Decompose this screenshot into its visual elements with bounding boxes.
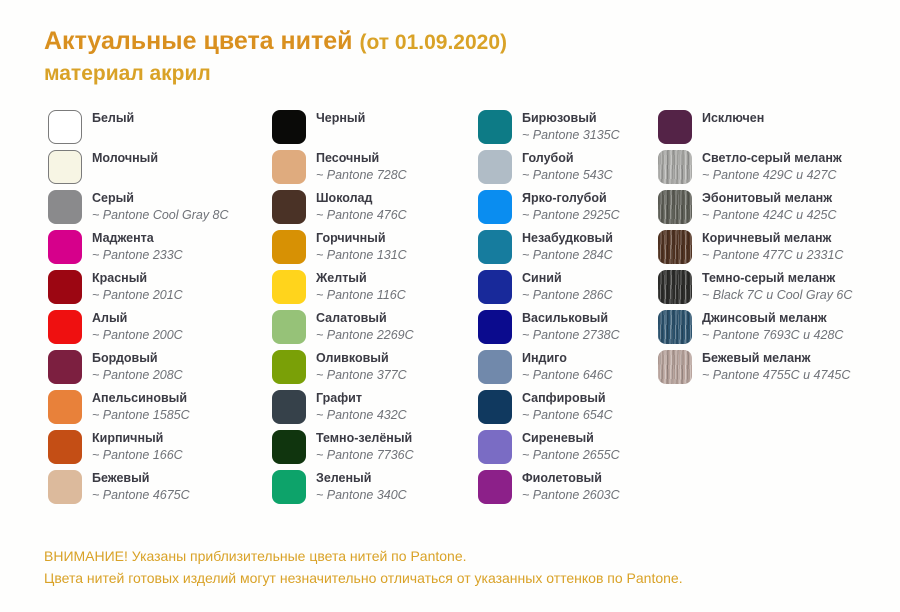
- color-row[interactable]: Сиреневый~ Pantone 2655C: [478, 430, 620, 470]
- color-pantone-code: ~ Pantone 116C: [316, 288, 406, 303]
- color-row[interactable]: Сапфировый~ Pantone 654C: [478, 390, 620, 430]
- color-pantone-code: ~ Pantone 646C: [522, 368, 613, 383]
- color-pantone-code: ~ Pantone 543C: [522, 168, 613, 183]
- color-text-block: Бордовый~ Pantone 208C: [92, 350, 183, 383]
- color-text-block: Ярко-голубой~ Pantone 2925C: [522, 190, 620, 223]
- color-pantone-code: ~ Pantone 4755C и 4745C: [702, 368, 850, 383]
- color-row[interactable]: Салатовый~ Pantone 2269C: [272, 310, 414, 350]
- color-swatch[interactable]: [48, 350, 82, 384]
- color-swatch[interactable]: [478, 350, 512, 384]
- color-pantone-code: ~ Pantone 476C: [316, 208, 407, 223]
- color-pantone-code: ~ Pantone 377C: [316, 368, 407, 383]
- color-pantone-code: ~ Pantone 131C: [316, 248, 407, 263]
- color-row[interactable]: Бежевый~ Pantone 4675C: [48, 470, 229, 510]
- color-name: Алый: [92, 311, 183, 326]
- color-name: Сапфировый: [522, 391, 613, 406]
- color-name: Темно-зелёный: [316, 431, 414, 446]
- color-pantone-code: ~ Pantone 429C и 427C: [702, 168, 842, 183]
- color-swatch[interactable]: [272, 310, 306, 344]
- color-swatch[interactable]: [272, 150, 306, 184]
- color-text-block: Кирпичный~ Pantone 166C: [92, 430, 183, 463]
- color-text-block: Сапфировый~ Pantone 654C: [522, 390, 613, 423]
- color-row[interactable]: Шоколад~ Pantone 476C: [272, 190, 414, 230]
- color-name: Джинсовый меланж: [702, 311, 843, 326]
- color-text-block: Черный: [316, 110, 365, 126]
- color-pantone-code: ~ Pantone 284C: [522, 248, 613, 263]
- color-name: Индиго: [522, 351, 613, 366]
- color-pantone-code: ~ Pantone 340C: [316, 488, 407, 503]
- color-row[interactable]: Синий~ Pantone 286C: [478, 270, 620, 310]
- color-name: Бирюзовый: [522, 111, 620, 126]
- color-row[interactable]: Эбонитовый меланж~ Pantone 424C и 425C: [658, 190, 852, 230]
- color-row[interactable]: Светло-серый меланж~ Pantone 429C и 427C: [658, 150, 852, 190]
- color-name: Горчичный: [316, 231, 407, 246]
- color-swatch[interactable]: [48, 270, 82, 304]
- color-swatch[interactable]: [48, 110, 82, 144]
- color-text-block: Желтый~ Pantone 116C: [316, 270, 406, 303]
- color-palette: БелыйМолочныйСерый~ Pantone Cool Gray 8C…: [0, 110, 900, 520]
- color-pantone-code: ~ Pantone 728C: [316, 168, 407, 183]
- color-text-block: Графит~ Pantone 432C: [316, 390, 407, 423]
- color-swatch[interactable]: [48, 150, 82, 184]
- color-name: Бордовый: [92, 351, 183, 366]
- color-text-block: Бежевый меланж~ Pantone 4755C и 4745C: [702, 350, 850, 383]
- color-text-block: Молочный: [92, 150, 158, 166]
- color-text-block: Белый: [92, 110, 134, 126]
- color-row[interactable]: Бежевый меланж~ Pantone 4755C и 4745C: [658, 350, 852, 390]
- color-swatch[interactable]: [478, 110, 512, 144]
- color-pantone-code: ~ Pantone 654C: [522, 408, 613, 423]
- color-row[interactable]: Молочный: [48, 150, 229, 190]
- color-row[interactable]: Апельсиновый~ Pantone 1585C: [48, 390, 229, 430]
- color-row[interactable]: Индиго~ Pantone 646C: [478, 350, 620, 390]
- color-text-block: Алый~ Pantone 200C: [92, 310, 183, 343]
- color-pantone-code: ~ Pantone 424C и 425C: [702, 208, 836, 223]
- color-row[interactable]: Желтый~ Pantone 116C: [272, 270, 414, 310]
- color-column-3: Бирюзовый~ Pantone 3135CГолубой~ Pantone…: [478, 110, 620, 510]
- page-header: Актуальные цвета нитей (от 01.09.2020) м…: [44, 26, 864, 87]
- color-row[interactable]: Черный: [272, 110, 414, 150]
- color-name: Бежевый: [92, 471, 190, 486]
- color-row[interactable]: Алый~ Pantone 200C: [48, 310, 229, 350]
- color-swatch[interactable]: [658, 190, 692, 224]
- color-swatch[interactable]: [272, 270, 306, 304]
- footer-line-1: ВНИМАНИЕ! Указаны приблизительные цвета …: [44, 545, 864, 567]
- color-row[interactable]: Темно-серый меланж~ Black 7C и Cool Gray…: [658, 270, 852, 310]
- color-pantone-code: ~ Pantone 233C: [92, 248, 183, 263]
- color-pantone-code: ~ Pantone 166C: [92, 448, 183, 463]
- color-name: Ярко-голубой: [522, 191, 620, 206]
- color-row[interactable]: Серый~ Pantone Cool Gray 8C: [48, 190, 229, 230]
- color-text-block: Сиреневый~ Pantone 2655C: [522, 430, 620, 463]
- color-swatch[interactable]: [478, 390, 512, 424]
- color-text-block: Апельсиновый~ Pantone 1585C: [92, 390, 190, 423]
- color-swatch[interactable]: [48, 390, 82, 424]
- footer-notice: ВНИМАНИЕ! Указаны приблизительные цвета …: [44, 545, 864, 589]
- color-text-block: Индиго~ Pantone 646C: [522, 350, 613, 383]
- color-text-block: Темно-серый меланж~ Black 7C и Cool Gray…: [702, 270, 852, 303]
- color-column-1: БелыйМолочныйСерый~ Pantone Cool Gray 8C…: [48, 110, 229, 510]
- color-text-block: Бирюзовый~ Pantone 3135C: [522, 110, 620, 143]
- color-name: Исключен: [702, 111, 764, 126]
- color-name: Шоколад: [316, 191, 407, 206]
- color-name: Темно-серый меланж: [702, 271, 852, 286]
- color-row[interactable]: Голубой~ Pantone 543C: [478, 150, 620, 190]
- color-text-block: Васильковый~ Pantone 2738C: [522, 310, 620, 343]
- color-pantone-code: ~ Pantone 208C: [92, 368, 183, 383]
- color-name: Маджента: [92, 231, 183, 246]
- color-name: Желтый: [316, 271, 406, 286]
- color-name: Графит: [316, 391, 407, 406]
- color-text-block: Голубой~ Pantone 543C: [522, 150, 613, 183]
- color-name: Васильковый: [522, 311, 620, 326]
- color-text-block: Песочный~ Pantone 728C: [316, 150, 407, 183]
- color-text-block: Зеленый~ Pantone 340C: [316, 470, 407, 503]
- color-swatch[interactable]: [658, 310, 692, 344]
- color-swatch[interactable]: [658, 150, 692, 184]
- color-name: Оливковый: [316, 351, 407, 366]
- color-name: Апельсиновый: [92, 391, 190, 406]
- color-column-2: ЧерныйПесочный~ Pantone 728CШоколад~ Pan…: [272, 110, 414, 510]
- color-swatch[interactable]: [658, 350, 692, 384]
- color-name: Эбонитовый меланж: [702, 191, 836, 206]
- color-pantone-code: ~ Pantone 200C: [92, 328, 183, 343]
- color-name: Белый: [92, 111, 134, 126]
- color-swatch[interactable]: [272, 110, 306, 144]
- color-text-block: Синий~ Pantone 286C: [522, 270, 613, 303]
- color-row[interactable]: Белый: [48, 110, 229, 150]
- color-pantone-code: ~ Pantone 4675C: [92, 488, 190, 503]
- color-row[interactable]: Бордовый~ Pantone 208C: [48, 350, 229, 390]
- color-text-block: Маджента~ Pantone 233C: [92, 230, 183, 263]
- color-name: Сиреневый: [522, 431, 620, 446]
- color-text-block: Светло-серый меланж~ Pantone 429C и 427C: [702, 150, 842, 183]
- color-text-block: Красный~ Pantone 201C: [92, 270, 183, 303]
- color-name: Кирпичный: [92, 431, 183, 446]
- color-row[interactable]: Песочный~ Pantone 728C: [272, 150, 414, 190]
- color-row[interactable]: Красный~ Pantone 201C: [48, 270, 229, 310]
- color-pantone-code: ~ Pantone 2925C: [522, 208, 620, 223]
- color-pantone-code: ~ Pantone 2655C: [522, 448, 620, 463]
- color-pantone-code: ~ Pantone 201C: [92, 288, 183, 303]
- color-swatch[interactable]: [478, 470, 512, 504]
- color-swatch[interactable]: [478, 230, 512, 264]
- color-name: Серый: [92, 191, 229, 206]
- color-text-block: Темно-зелёный~ Pantone 7736C: [316, 430, 414, 463]
- color-column-4: ИсключенСветло-серый меланж~ Pantone 429…: [658, 110, 852, 390]
- color-name: Фиолетовый: [522, 471, 620, 486]
- color-text-block: Салатовый~ Pantone 2269C: [316, 310, 414, 343]
- color-name: Незабудковый: [522, 231, 613, 246]
- color-text-block: Коричневый меланж~ Pantone 477C и 2331C: [702, 230, 843, 263]
- color-row[interactable]: Графит~ Pantone 432C: [272, 390, 414, 430]
- color-name: Зеленый: [316, 471, 407, 486]
- color-name: Молочный: [92, 151, 158, 166]
- color-text-block: Серый~ Pantone Cool Gray 8C: [92, 190, 229, 223]
- color-row[interactable]: Маджента~ Pantone 233C: [48, 230, 229, 270]
- color-name: Салатовый: [316, 311, 414, 326]
- color-swatch[interactable]: [478, 310, 512, 344]
- color-pantone-code: ~ Pantone 1585C: [92, 408, 190, 423]
- page-subtitle: материал акрил: [44, 60, 864, 87]
- color-swatch[interactable]: [478, 190, 512, 224]
- color-row[interactable]: Незабудковый~ Pantone 284C: [478, 230, 620, 270]
- color-pantone-code: ~ Pantone Cool Gray 8C: [92, 208, 229, 223]
- page-title: Актуальные цвета нитей (от 01.09.2020): [44, 26, 864, 58]
- footer-line-2: Цвета нитей готовых изделий могут незнач…: [44, 567, 864, 589]
- color-text-block: Оливковый~ Pantone 377C: [316, 350, 407, 383]
- color-text-block: Незабудковый~ Pantone 284C: [522, 230, 613, 263]
- color-name: Голубой: [522, 151, 613, 166]
- color-name: Красный: [92, 271, 183, 286]
- color-text-block: Бежевый~ Pantone 4675C: [92, 470, 190, 503]
- color-name: Черный: [316, 111, 365, 126]
- color-swatch[interactable]: [48, 310, 82, 344]
- color-row[interactable]: Бирюзовый~ Pantone 3135C: [478, 110, 620, 150]
- color-swatch[interactable]: [48, 230, 82, 264]
- color-pantone-code: ~ Pantone 3135C: [522, 128, 620, 143]
- color-text-block: Джинсовый меланж~ Pantone 7693C и 428C: [702, 310, 843, 343]
- color-swatch[interactable]: [272, 350, 306, 384]
- color-row[interactable]: Горчичный~ Pantone 131C: [272, 230, 414, 270]
- color-swatch[interactable]: [272, 190, 306, 224]
- color-name: Светло-серый меланж: [702, 151, 842, 166]
- color-swatch[interactable]: [272, 430, 306, 464]
- color-pantone-code: ~ Pantone 2603C: [522, 488, 620, 503]
- color-text-block: Шоколад~ Pantone 476C: [316, 190, 407, 223]
- color-name: Синий: [522, 271, 613, 286]
- color-row[interactable]: Исключен: [658, 110, 852, 150]
- color-swatch[interactable]: [658, 230, 692, 264]
- color-row[interactable]: Темно-зелёный~ Pantone 7736C: [272, 430, 414, 470]
- color-row[interactable]: Коричневый меланж~ Pantone 477C и 2331C: [658, 230, 852, 270]
- color-name: Бежевый меланж: [702, 351, 850, 366]
- color-pantone-code: ~ Pantone 7693C и 428C: [702, 328, 843, 343]
- color-pantone-code: ~ Black 7C и Cool Gray 6C: [702, 288, 852, 303]
- color-row[interactable]: Оливковый~ Pantone 377C: [272, 350, 414, 390]
- color-row[interactable]: Ярко-голубой~ Pantone 2925C: [478, 190, 620, 230]
- color-swatch[interactable]: [48, 430, 82, 464]
- color-swatch[interactable]: [272, 230, 306, 264]
- color-text-block: Горчичный~ Pantone 131C: [316, 230, 407, 263]
- color-swatch[interactable]: [48, 470, 82, 504]
- color-pantone-code: ~ Pantone 7736C: [316, 448, 414, 463]
- color-text-block: Фиолетовый~ Pantone 2603C: [522, 470, 620, 503]
- color-row[interactable]: Зеленый~ Pantone 340C: [272, 470, 414, 510]
- color-text-block: Исключен: [702, 110, 764, 126]
- color-row[interactable]: Васильковый~ Pantone 2738C: [478, 310, 620, 350]
- color-swatch[interactable]: [658, 270, 692, 304]
- color-swatch[interactable]: [478, 270, 512, 304]
- color-swatch[interactable]: [272, 390, 306, 424]
- color-pantone-code: ~ Pantone 432C: [316, 408, 407, 423]
- color-row[interactable]: Кирпичный~ Pantone 166C: [48, 430, 229, 470]
- page-title-date: (от 01.09.2020): [359, 31, 507, 54]
- color-swatch[interactable]: [272, 470, 306, 504]
- color-pantone-code: ~ Pantone 2738C: [522, 328, 620, 343]
- color-pantone-code: ~ Pantone 477C и 2331C: [702, 248, 843, 263]
- color-name: Коричневый меланж: [702, 231, 843, 246]
- color-swatch[interactable]: [478, 430, 512, 464]
- color-pantone-code: ~ Pantone 2269C: [316, 328, 414, 343]
- color-row[interactable]: Джинсовый меланж~ Pantone 7693C и 428C: [658, 310, 852, 350]
- color-row[interactable]: Фиолетовый~ Pantone 2603C: [478, 470, 620, 510]
- color-swatch[interactable]: [48, 190, 82, 224]
- color-text-block: Эбонитовый меланж~ Pantone 424C и 425C: [702, 190, 836, 223]
- color-swatch[interactable]: [658, 110, 692, 144]
- page-title-main: Актуальные цвета нитей: [44, 27, 353, 55]
- color-swatch[interactable]: [478, 150, 512, 184]
- color-name: Песочный: [316, 151, 407, 166]
- color-pantone-code: ~ Pantone 286C: [522, 288, 613, 303]
